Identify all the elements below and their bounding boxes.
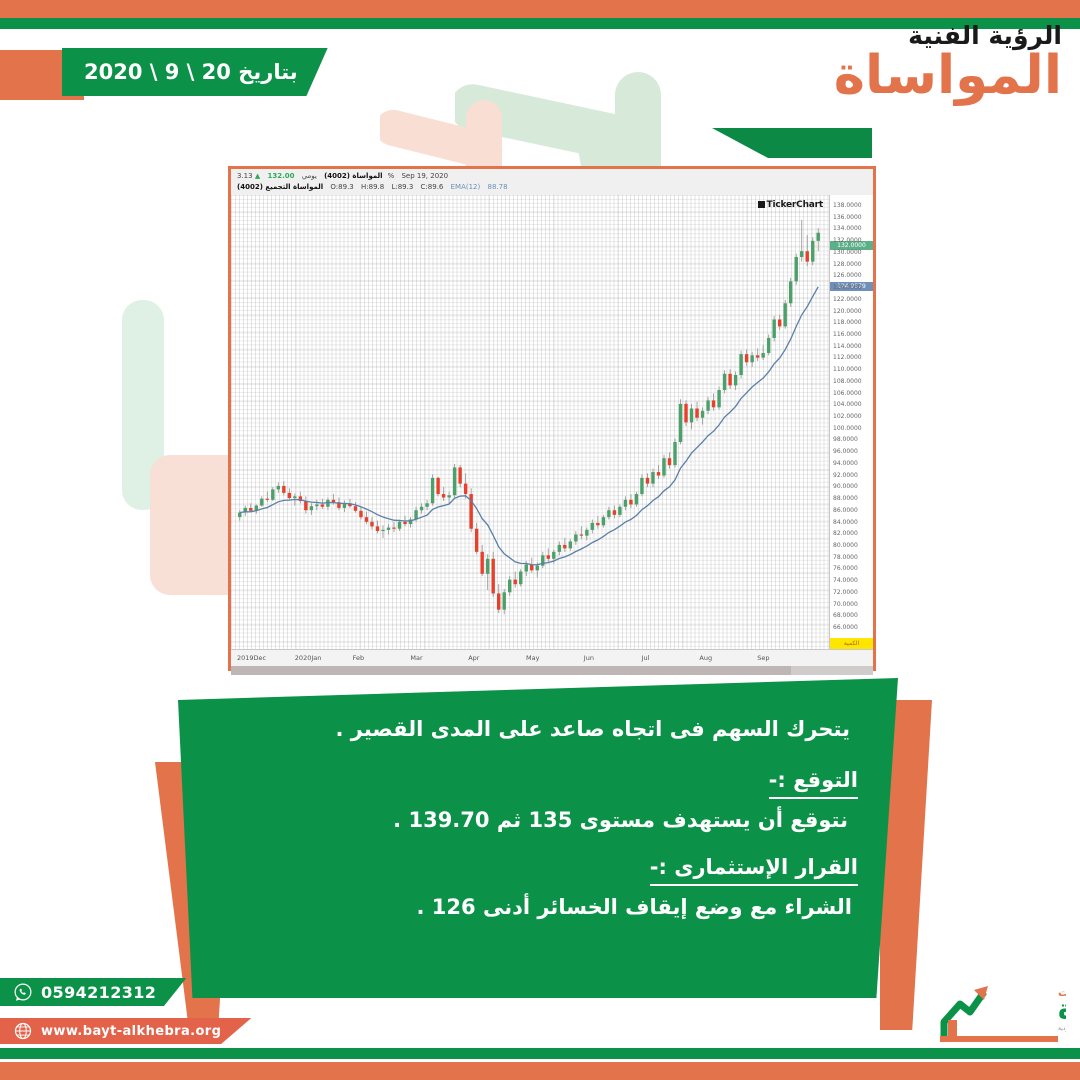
chart-high-value: H:89.8: [361, 183, 384, 191]
chart-timeframe-label: يومي: [302, 172, 317, 180]
price-axis-tick: 102.0000: [833, 413, 862, 420]
time-axis-tick: 2019Dec: [237, 654, 266, 662]
whatsapp-icon: [14, 983, 32, 1001]
chart-body: TickerChart 132.0000 124.9579 الكمية 138…: [231, 195, 873, 649]
price-axis-tick: 106.0000: [833, 390, 862, 397]
chart-horizontal-scrollbar[interactable]: [231, 666, 873, 675]
price-axis-tick: 122.0000: [833, 296, 862, 303]
price-axis-tick: 90.0000: [833, 483, 858, 490]
price-axis-tick: 130.0000: [833, 249, 862, 256]
price-axis-tick: 126.0000: [833, 272, 862, 279]
bottom-green-bar: [0, 1048, 1080, 1059]
website-contact-banner[interactable]: www.bayt-alkhebra.org: [0, 1018, 251, 1044]
decorative-green-triangle: [712, 128, 872, 158]
candlestick-series: [231, 195, 829, 649]
price-axis-tick: 114.0000: [833, 343, 862, 350]
chart-ema-value: 88.78: [487, 183, 507, 191]
price-axis-tick: 76.0000: [833, 565, 858, 572]
chart-last-price: 132.00: [267, 172, 294, 180]
price-axis-tick: 124.0000: [833, 284, 862, 291]
price-axis-tick: 100.0000: [833, 425, 862, 432]
price-axis-tick: 70.0000: [833, 601, 858, 608]
decision-heading-row: القرار الإستثمارى :-: [276, 856, 858, 892]
ema-line: [240, 287, 818, 565]
chart-ema-label: EMA(12): [451, 183, 481, 191]
analysis-content-panel: يتحرك السهم فى اتجاه صاعد على المدى القص…: [178, 678, 898, 998]
tickerchart-mark-icon: [758, 201, 765, 208]
page-title: المواساة: [834, 48, 1062, 104]
website-url: www.bayt-alkhebra.org: [41, 1024, 221, 1039]
time-axis-tick: 2020Jan: [295, 654, 322, 662]
forecast-heading-row: التوقع :-: [258, 769, 858, 805]
forecast-heading: التوقع :-: [769, 769, 858, 799]
whatsapp-number: 0594212312: [41, 983, 156, 1002]
time-axis-tick: Mar: [410, 654, 422, 662]
price-axis-tick: 134.0000: [833, 225, 862, 232]
time-axis-tick: Jul: [642, 654, 650, 662]
brand-logo-tagline: توصيات الأسهم السعودية: [1058, 1024, 1066, 1032]
chart-quote-line: المواساة (4002) يومي 132.00 ▲ 3.13% Sep …: [237, 171, 867, 182]
time-axis-tick: Jun: [584, 654, 594, 662]
price-axis-tick: 84.0000: [833, 519, 858, 526]
whatsapp-contact-banner[interactable]: 0594212312: [0, 978, 186, 1006]
chart-info-bar: المواساة (4002) يومي 132.00 ▲ 3.13% Sep …: [231, 169, 873, 195]
price-axis-tick: 92.0000: [833, 472, 858, 479]
price-axis-tick: 66.0000: [833, 624, 858, 631]
price-axis-tick: 104.0000: [833, 401, 862, 408]
brand-logo-prefix: بيت: [1058, 986, 1066, 999]
globe-icon: [14, 1022, 32, 1040]
price-axis-tick: 96.0000: [833, 448, 858, 455]
price-axis-tick: 118.0000: [833, 319, 862, 326]
time-axis-tick: May: [526, 654, 539, 662]
chart-plot-area[interactable]: TickerChart: [231, 195, 829, 649]
price-axis-tick: 74.0000: [833, 577, 858, 584]
price-axis-tick: 88.0000: [833, 495, 858, 502]
chart-symbol-label: المواساة (4002): [324, 172, 382, 180]
chart-close-value: C:89.6: [421, 183, 444, 191]
price-axis: 132.0000 124.9579 الكمية 138.0000136.000…: [829, 195, 873, 649]
price-axis-tick: 80.0000: [833, 542, 858, 549]
price-axis-tick: 98.0000: [833, 436, 858, 443]
price-axis-tick: 68.0000: [833, 612, 858, 619]
date-banner: بتاريخ 20 \ 9 \ 2020: [62, 48, 328, 96]
price-axis-tick: 82.0000: [833, 530, 858, 537]
price-axis-tick: 78.0000: [833, 554, 858, 561]
price-axis-tick: 132.0000: [833, 237, 862, 244]
top-orange-bar: [0, 0, 1080, 18]
price-axis-tick: 116.0000: [833, 331, 862, 338]
price-axis-tick: 94.0000: [833, 460, 858, 467]
price-axis-tick: 120.0000: [833, 308, 862, 315]
time-axis-tick: Sep: [757, 654, 769, 662]
chart-ohlc-line: المواساة التجميع (4002) O:89.3 H:89.8 L:…: [237, 182, 867, 193]
volume-axis-tag: الكمية: [830, 638, 873, 649]
chart-change-arrow-icon: ▲: [255, 172, 260, 180]
price-axis-tick: 112.0000: [833, 354, 862, 361]
price-axis-tick: 86.0000: [833, 507, 858, 514]
price-axis-tick: 136.0000: [833, 214, 862, 221]
time-axis-tick: Aug: [699, 654, 712, 662]
analysis-summary: يتحرك السهم فى اتجاه صاعد على المدى القص…: [218, 718, 850, 741]
header-title-block: الرؤية الفنية المواساة: [834, 22, 1062, 103]
price-axis-tick: 72.0000: [833, 589, 858, 596]
chart-scrollbar-thumb[interactable]: [231, 666, 791, 675]
price-axis-tick: 110.0000: [833, 366, 862, 373]
price-axis-tick: 108.0000: [833, 378, 862, 385]
chart-open-value: O:89.3: [330, 183, 353, 191]
date-banner-label: بتاريخ 20 \ 9 \ 2020: [84, 60, 298, 84]
decision-text: الشراء مع وضع إيقاف الخسائر أدنى 126 .: [218, 896, 852, 919]
bottom-orange-bar: [0, 1062, 1080, 1080]
price-axis-tick: 138.0000: [833, 202, 862, 209]
time-axis-tick: Feb: [353, 654, 365, 662]
forecast-text: نتوقع أن يستهدف مستوى 135 ثم 139.70 .: [218, 809, 848, 832]
decision-heading: القرار الإستثمارى :-: [650, 856, 858, 886]
chart-quote-date: Sep 19, 2020: [401, 172, 448, 180]
tickerchart-logo-label: TickerChart: [767, 200, 823, 210]
chart-low-value: L:89.3: [391, 183, 413, 191]
brand-logo-underline: [940, 1036, 1058, 1042]
price-axis-tick: 128.0000: [833, 261, 862, 268]
tickerchart-logo: TickerChart: [758, 200, 823, 210]
time-axis: 2019Dec2020JanFebMarAprMayJunJulAugSep: [231, 649, 873, 666]
time-axis-tick: Apr: [468, 654, 479, 662]
chart-card: المواساة (4002) يومي 132.00 ▲ 3.13% Sep …: [228, 166, 876, 671]
chart-series-label: المواساة التجميع (4002): [237, 183, 323, 191]
